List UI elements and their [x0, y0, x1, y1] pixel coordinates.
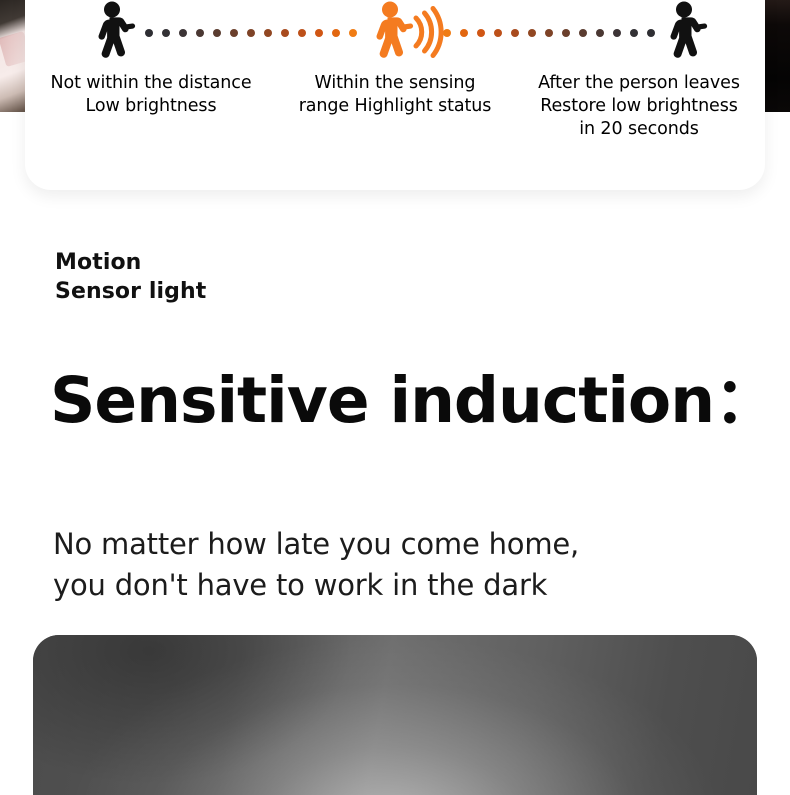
walking-person-sensing-icon	[361, 0, 447, 66]
trail-dot	[298, 29, 306, 37]
trail-dot	[579, 29, 587, 37]
stage-caption-line: range Highlight status	[277, 95, 513, 118]
stage-caption-line: Within the sensing	[277, 72, 513, 95]
walking-person-icon	[655, 0, 717, 66]
stage-caption-line: in 20 seconds	[521, 118, 757, 141]
trail-dot	[647, 29, 655, 37]
eyebrow-line: Motion	[55, 248, 206, 277]
trail-dot	[145, 29, 153, 37]
trail-dot	[332, 29, 340, 37]
dark-room-lamp-photo	[33, 635, 757, 795]
trail-dot	[349, 29, 357, 37]
trail-dot	[315, 29, 323, 37]
trail-dot	[494, 29, 502, 37]
trail-dot	[162, 29, 170, 37]
walking-person-icon	[83, 0, 145, 66]
trail-dot	[630, 29, 638, 37]
trail-dot	[213, 29, 221, 37]
stage-caption-line: Low brightness	[33, 95, 269, 118]
trail-right-to-left	[443, 27, 655, 39]
stage-caption-not-within-distance: Not within the distance Low brightness	[33, 72, 269, 141]
product-eyebrow-title: Motion Sensor light	[55, 248, 206, 307]
trail-dot	[281, 29, 289, 37]
trail-dot	[460, 29, 468, 37]
sensor-stage-captions-row: Not within the distance Low brightness W…	[25, 72, 765, 141]
subcopy-line: you don't have to work in the dark	[53, 565, 579, 606]
stage-caption-line: After the person leaves	[521, 72, 757, 95]
motion-sensor-stages-card: Not within the distance Low brightness W…	[25, 0, 765, 190]
page-headline: Sensitive induction：	[50, 366, 776, 435]
stage-caption-after-person-leaves: After the person leaves Restore low brig…	[521, 72, 757, 141]
trail-dot	[247, 29, 255, 37]
trail-dot	[264, 29, 272, 37]
trail-dot	[230, 29, 238, 37]
stage-caption-line: Not within the distance	[33, 72, 269, 95]
trail-dot	[511, 29, 519, 37]
subcopy-line: No matter how late you come home,	[53, 524, 579, 565]
trail-left-to-right	[145, 27, 357, 39]
trail-dot	[613, 29, 621, 37]
trail-dot	[562, 29, 570, 37]
sensor-stage-graphics-row	[25, 0, 765, 66]
lamp-glow	[33, 635, 757, 795]
page-subcopy: No matter how late you come home, you do…	[53, 524, 579, 606]
stage-caption-line: Restore low brightness	[521, 95, 757, 118]
trail-dot	[179, 29, 187, 37]
trail-dot	[196, 29, 204, 37]
trail-dot	[545, 29, 553, 37]
eyebrow-line: Sensor light	[55, 277, 206, 306]
trail-dot	[477, 29, 485, 37]
trail-dot	[596, 29, 604, 37]
stage-caption-within-sensing-range: Within the sensing range Highlight statu…	[277, 72, 513, 141]
trail-dot	[528, 29, 536, 37]
